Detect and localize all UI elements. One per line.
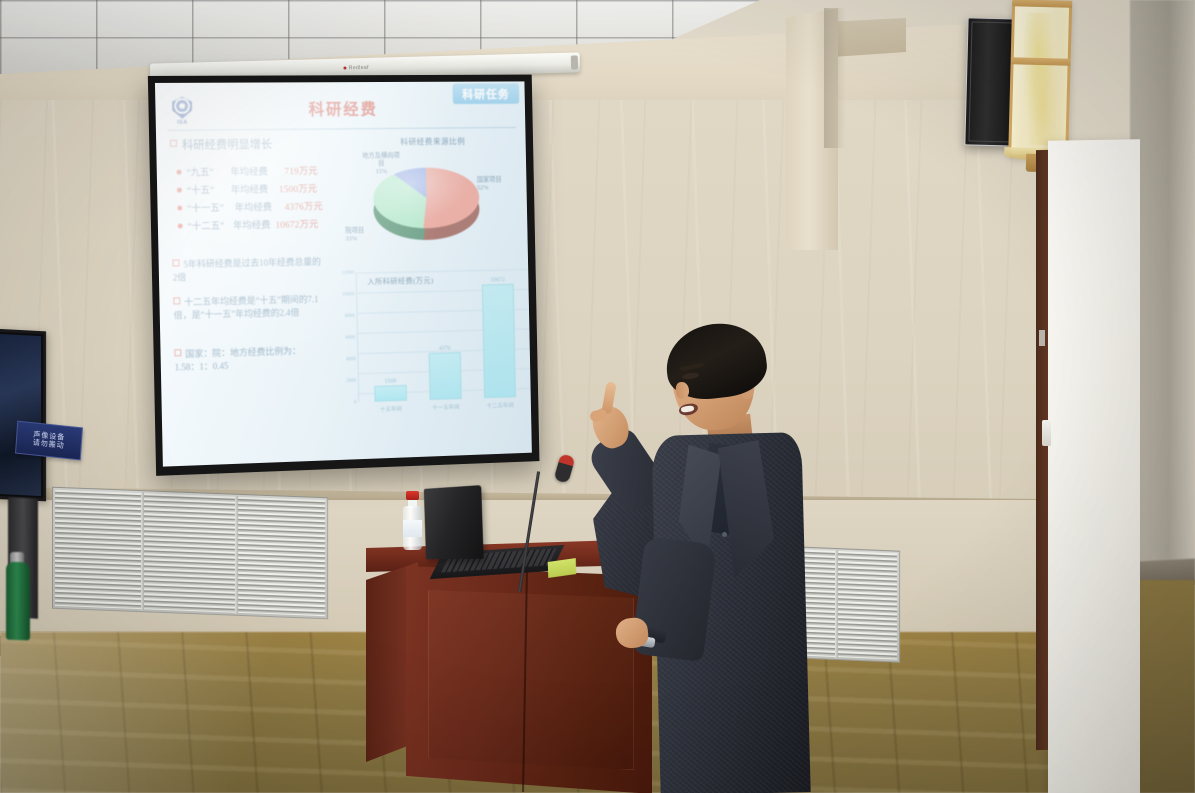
pie-label-local: 地方及横向项目 15% [359,152,403,177]
y-tick-label: 4000 [346,356,356,362]
finance-value: 10672万元 [275,216,318,231]
dot-bullet-icon [177,188,182,193]
bar-chart-plot: 0 2000 4000 6000 8000 10000 12000 1500 十… [356,269,532,402]
dot-bullet-icon [177,170,182,175]
wall-lcd-display [0,329,46,502]
slide-body: 科研经费明显增长 “九五” 年均经费 719万元 “十五” 年均经费 1500万… [156,132,532,463]
jacket-button [722,532,727,537]
slide-section-tab: 科研任务 [453,83,520,104]
logo-emblem-icon [172,97,192,119]
slide-heading: 科研经费明显增长 [170,136,272,153]
green-gas-cylinder [6,562,30,641]
finance-label: 年均经费 [231,181,269,195]
white-door[interactable] [1048,139,1140,793]
grille-divider [141,492,144,610]
pie-chart-title: 科研经费来源比例 [400,136,465,147]
bar-column: 10672 十二五年间 [482,283,516,398]
slide-note: 5年科研经费是过去10年经费总量的2倍 [172,254,321,285]
bar-chart: 入所科研经费(万元) 0 2000 4000 6000 8000 10000 1… [323,265,532,427]
lcd-screen [0,334,41,496]
brand-dot-icon [344,67,347,70]
door-hinge [1039,330,1045,346]
grille-divider [235,496,238,614]
bottle-cap [406,491,419,500]
y-tick-label: 0 [354,399,357,405]
square-bullet-icon [170,140,177,147]
laptop-screen[interactable] [424,485,484,559]
y-tick-label: 12000 [342,270,354,276]
slide-title-rule [168,127,516,131]
lamp-shade-pattern [1021,13,1058,146]
housing-end-cap [571,55,578,69]
finance-label: 年均经费 [234,199,272,213]
lamp-shade [1008,0,1072,159]
pie-label-text: 院项目 [345,227,364,234]
pie-label-text: 国家项目 [477,177,502,184]
square-bullet-icon [172,259,179,266]
door-handle[interactable] [1042,420,1051,446]
slide-note-text: 5年科研经费是过去10年经费总量的2倍 [173,257,321,283]
finance-period: “十二五” [187,218,224,233]
housing-brand-text: Redleaf [349,65,369,72]
finance-row: “十二五” 年均经费 10672万元 [178,216,319,232]
finance-period: “十一五” [187,200,224,214]
y-tick-label: 10000 [342,291,354,297]
sign-line-2: 请勿搬动 [33,439,65,449]
slide-heading-text: 科研经费明显增长 [182,136,272,153]
bar-value-label: 10672 [490,276,505,283]
pilaster-shadow [824,8,846,148]
finance-value: 719万元 [284,163,318,177]
bar-column: 4376 十一五年间 [429,352,462,400]
left-radiator-grille [52,487,328,620]
dot-bullet-icon [178,223,183,228]
pie-label-national: 国家项目 52% [477,177,502,193]
finance-period: “十五” [187,182,215,196]
pie-label-text: 地方及横向项目 [362,152,400,167]
finance-value: 4376万元 [285,199,324,213]
dot-bullet-icon [177,206,182,211]
floor-reflection [0,632,420,793]
bar-value-label: 1500 [384,377,396,384]
finance-value: 1500万元 [279,181,318,195]
pie-label-pct: 33% [345,235,364,243]
finance-row: “九五” 年均经费 719万元 [176,163,317,179]
grille-louvers [55,490,325,616]
slide-note: 十二五年均经费是“十五”期间的7.1倍，是“十一五”年均经费的2.4倍 [173,291,322,322]
square-bullet-icon [173,297,180,304]
finance-label: 年均经费 [230,164,268,178]
finance-row: “十一五” 年均经费 4376万元 [177,199,323,215]
slide-note: 国家：院：地方经费比例为：1.58：1：0.45 [174,342,323,374]
pie-chart-graphic [373,167,480,245]
pie-label-institute: 院项目 33% [345,227,364,244]
bar-category-label: 十五年间 [380,404,402,414]
conference-room-photo: 声像设备 请勿搬动 Redleaf 科研任务 IGA 科研经费 [0,0,1195,793]
bar-category-label: 十一五年间 [432,402,459,412]
housing-brand-label: Redleaf [344,65,369,72]
pie-label-pct: 52% [477,184,502,192]
presenter [560,318,860,793]
slide-note-text: 十二五年均经费是“十五”期间的7.1倍，是“十一五”年均经费的2.4倍 [174,294,319,320]
blue-warning-sign: 声像设备 请勿搬动 [15,421,83,461]
finance-row: “十五” 年均经费 1500万元 [177,181,317,197]
y-tick-label: 2000 [346,378,356,384]
pie-label-pct: 15% [359,168,403,177]
finance-period: “九五” [186,164,214,178]
institute-logo: IGA [169,97,195,126]
y-tick-label: 8000 [345,313,355,319]
finance-label: 年均经费 [233,217,271,232]
y-tick-label: 6000 [345,335,355,341]
projection-screen[interactable]: 科研任务 IGA 科研经费 科研经费明显增长 “九 [148,75,540,476]
bar-column: 1500 十五年间 [374,385,407,402]
bar-value-label: 4376 [439,345,451,352]
slide-title: 科研经费 [308,96,378,120]
presentation-slide: 科研任务 IGA 科研经费 科研经费明显增长 “九 [155,81,532,466]
square-bullet-icon [174,349,181,356]
slide-note-text: 国家：院：地方经费比例为：1.58：1：0.45 [175,346,301,372]
pie-chart: 科研经费来源比例 国家项目 52% 院项目 33% [338,136,529,260]
bottle-label [403,520,422,537]
logo-text: IGA [170,120,196,126]
bar-category-label: 十二五年间 [487,400,514,410]
